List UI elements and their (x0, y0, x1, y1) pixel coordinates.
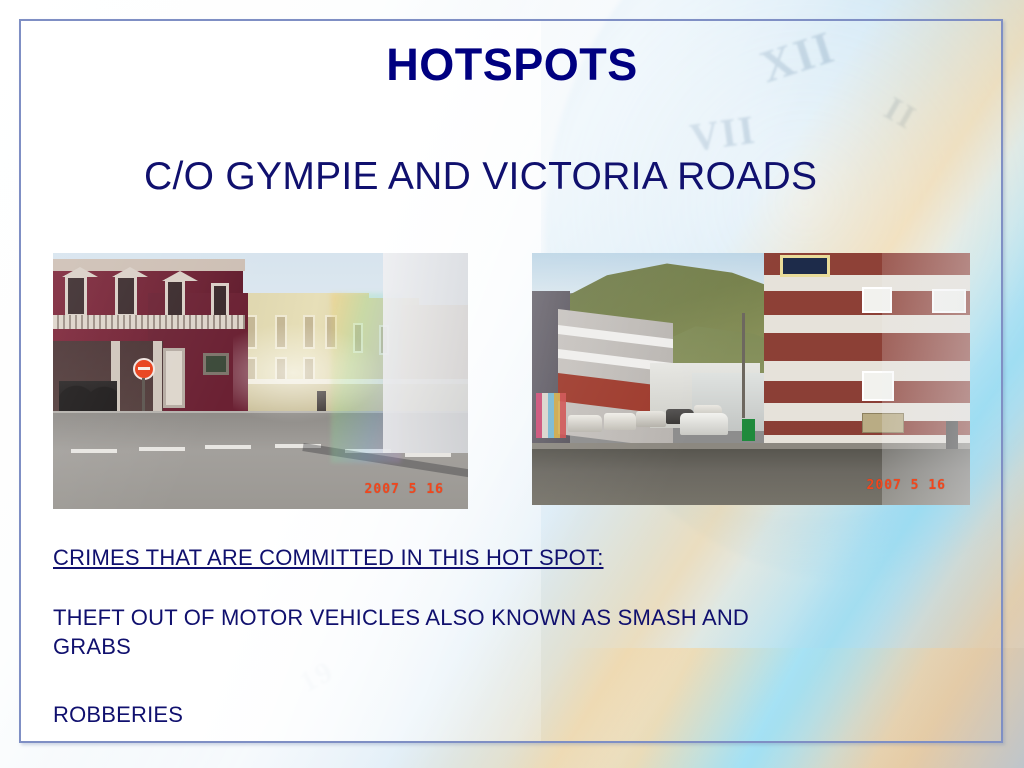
slide-subtitle: C/O GYMPIE AND VICTORIA ROADS (144, 155, 817, 199)
body-item-2: ROBBERIES (53, 700, 813, 730)
body-heading: CRIMES THAT ARE COMMITTED IN THIS HOT SP… (53, 543, 813, 573)
body-item-1: THEFT OUT OF MOTOR VEHICLES ALSO KNOWN A… (53, 603, 813, 662)
photo-left-street-corner: 2007 5 16 (53, 253, 468, 509)
photo-date-stamp: 2007 5 16 (867, 478, 946, 493)
slide-body: CRIMES THAT ARE COMMITTED IN THIS HOT SP… (53, 543, 813, 730)
presentation-slide: XII VII II 19 HOTSPOTS C/O GYMPIE AND VI… (0, 0, 1024, 768)
photo-overlay (53, 253, 468, 509)
page-title: HOTSPOTS (0, 40, 1024, 90)
photo-overlay (532, 253, 970, 505)
photo-right-street-view: 2007 5 16 (532, 253, 970, 505)
photo-date-stamp: 2007 5 16 (365, 482, 444, 497)
